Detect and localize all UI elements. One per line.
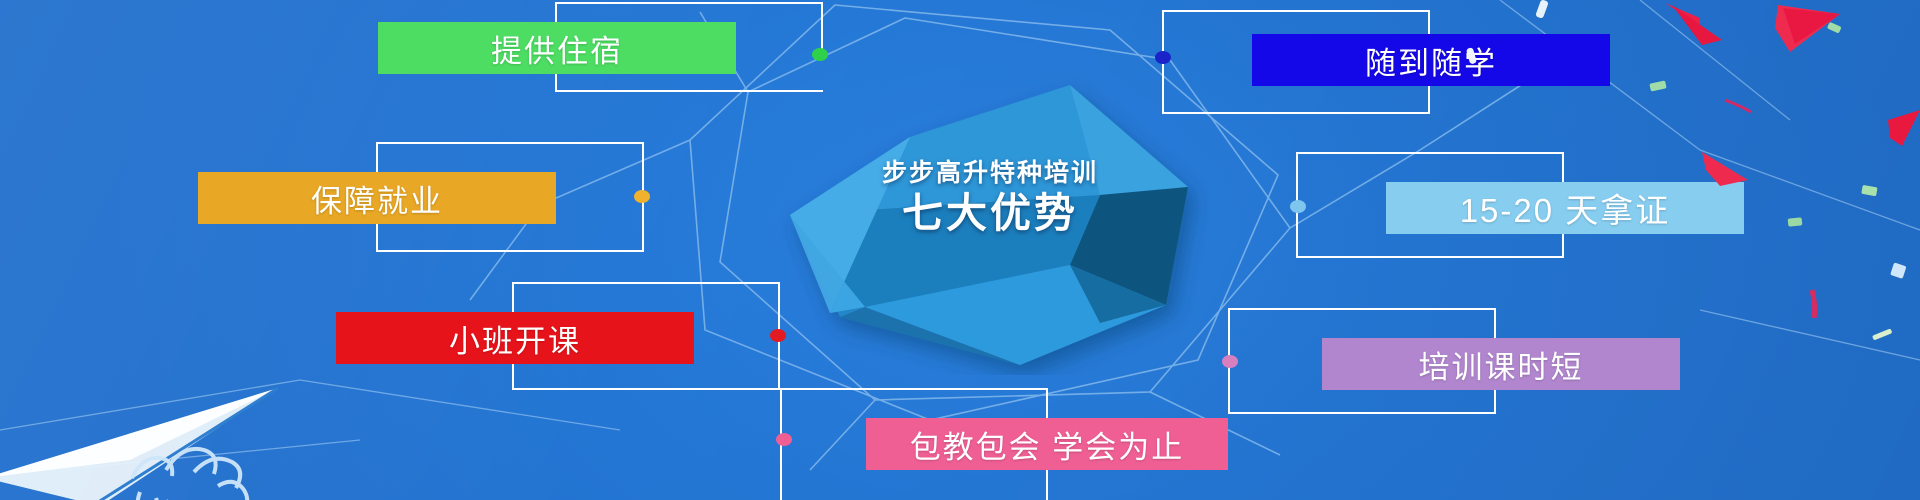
promo-banner: 步步高升特种培训 七大优势 提供住宿 保障就业 小班开课 包教包会 学会为止 随… [0,0,1920,500]
confetti-decorations [0,0,1920,500]
